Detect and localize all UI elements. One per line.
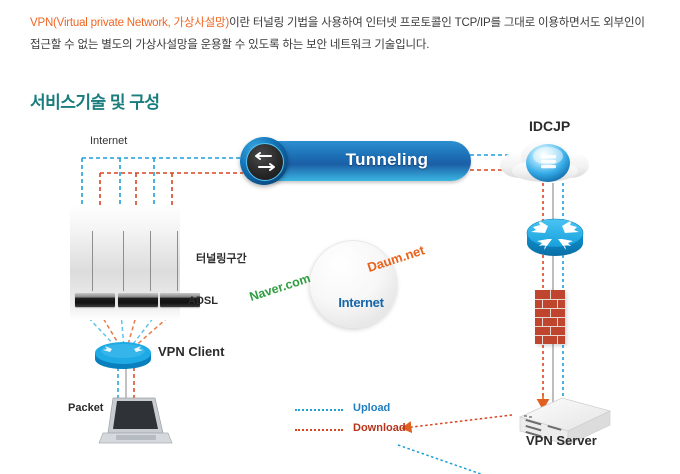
label-vpn-client: VPN Client bbox=[158, 344, 224, 359]
intro-highlight: VPN(Virtual private Network, 가상사설망) bbox=[30, 17, 229, 29]
bidirectional-arrows-icon bbox=[240, 137, 288, 185]
legend-label-download: Download bbox=[353, 422, 406, 434]
adsl-modem-1 bbox=[75, 293, 115, 307]
page-title: 서비스기술 및 구성 bbox=[30, 88, 160, 113]
client-laptop-shape bbox=[99, 398, 172, 443]
tunnel-divider bbox=[123, 231, 124, 291]
idcjp-server-dome bbox=[526, 144, 570, 182]
core-router-shape bbox=[527, 219, 583, 256]
legend-label-upload: Upload bbox=[353, 402, 390, 414]
tunnel-divider bbox=[177, 231, 178, 291]
firewall-brick-wall bbox=[535, 290, 565, 344]
tunnel-divider bbox=[92, 231, 93, 291]
legend-swatch-upload bbox=[295, 409, 343, 411]
label-tunnel-zone: 터널링구간 bbox=[196, 250, 247, 266]
adsl-modem-2 bbox=[118, 293, 158, 307]
tunneling-label: Tunneling bbox=[317, 150, 457, 170]
vpn-client-shape bbox=[95, 342, 151, 369]
label-internet-node: Internet bbox=[316, 295, 406, 310]
label-packet: Packet bbox=[68, 402, 103, 414]
legend-swatch-download bbox=[295, 429, 343, 431]
label-internet-bus: Internet bbox=[90, 135, 127, 147]
label-adsl: ADSL bbox=[188, 295, 218, 307]
label-idcjp: IDCJP bbox=[529, 118, 570, 134]
network-diagram: Tunneling Internet IDCJP 터널링구간 ADSL VPN … bbox=[0, 115, 680, 474]
tunnel-divider bbox=[150, 231, 151, 291]
internet-browser-circle[interactable] bbox=[309, 240, 397, 328]
arrows-glyph bbox=[247, 144, 283, 180]
label-vpn-server: VPN Server bbox=[526, 433, 597, 448]
intro-paragraph: VPN(Virtual private Network, 가상사설망)이란 터널… bbox=[30, 12, 650, 56]
